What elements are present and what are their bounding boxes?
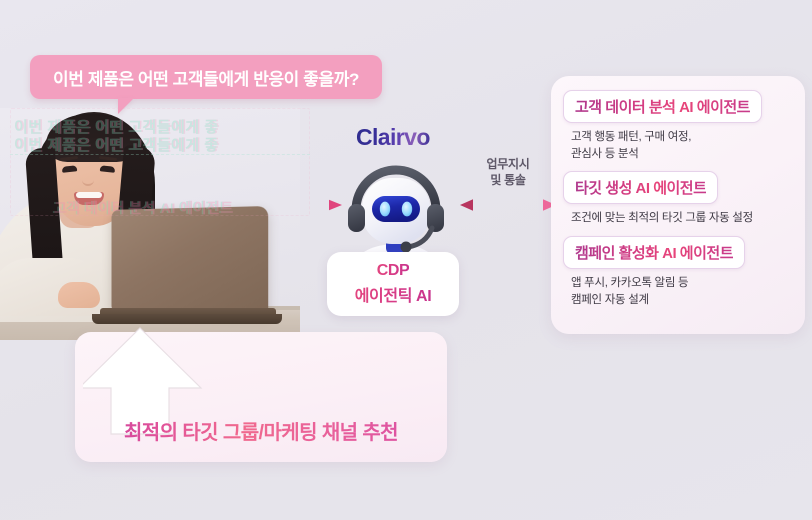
laptop-user-photo [0, 108, 300, 340]
laptop-base [92, 314, 282, 324]
agent-title: 고객 데이터 분석 AI 에이전트 [575, 99, 750, 116]
agent-title-pill[interactable]: 캠페인 활성화 AI 에이전트 [563, 236, 745, 269]
cdp-title-line-2: 에이전틱 AI [355, 282, 432, 306]
laptop-lid [112, 206, 269, 314]
agent-description: 조건에 맞는 최적의 타깃 그룹 자동 설정 [571, 210, 793, 227]
agent-description: 앱 푸시, 카카오톡 알림 등 캠페인 자동 설계 [571, 275, 793, 308]
person-to-robot-arrow [166, 199, 342, 211]
mid-arrow-label-line-2: 및 통솔 [463, 172, 553, 188]
speech-bubble-tail [118, 98, 134, 114]
mouth-smile [74, 192, 104, 205]
mid-arrow-label: 업무지시 및 통솔 [463, 156, 553, 188]
speech-bubble: 이번 제품은 어떤 고객들에게 반응이 좋을까? [30, 55, 382, 99]
cdp-title-line-1: CDP [377, 262, 410, 280]
clairvo-logo: Clairvo [356, 124, 430, 151]
ai-agents-panel: 고객 데이터 분석 AI 에이전트 고객 행동 패턴, 구매 여정, 관심사 등… [551, 76, 805, 334]
agent-description: 고객 행동 패턴, 구매 여정, 관심사 등 분석 [571, 129, 793, 162]
infographic-canvas: 이번 제품은 어떤 고객들에게 좋 이번 제품은 어떤 고객들에게 좋 고객 데… [0, 0, 812, 520]
cdp-agentic-ai-box: CDP 에이전틱 AI [327, 252, 459, 316]
agent-title: 타깃 생성 AI 에이전트 [575, 180, 706, 197]
agent-card: 캠페인 활성화 AI 에이전트 앱 푸시, 카카오톡 알림 등 캠페인 자동 설… [563, 236, 793, 308]
agent-title: 캠페인 활성화 AI 에이전트 [575, 245, 733, 262]
bidirectional-arrow-icon [460, 198, 556, 212]
teeth [76, 192, 102, 198]
recommendation-text: 최적의 타깃 그룹/마케팅 채널 추천 [75, 416, 447, 445]
mid-arrow-label-line-1: 업무지시 [463, 156, 553, 172]
agent-card: 타깃 생성 AI 에이전트 조건에 맞는 최적의 타깃 그룹 자동 설정 [563, 171, 793, 227]
speech-bubble-text: 이번 제품은 어떤 고객들에게 반응이 좋을까? [53, 65, 359, 90]
agent-title-pill[interactable]: 고객 데이터 분석 AI 에이전트 [563, 90, 762, 123]
agent-title-pill[interactable]: 타깃 생성 AI 에이전트 [563, 171, 718, 204]
recommendation-panel: 최적의 타깃 그룹/마케팅 채널 추천 [75, 332, 447, 462]
person-hand [58, 282, 100, 308]
agent-card: 고객 데이터 분석 AI 에이전트 고객 행동 패턴, 구매 여정, 관심사 등… [563, 90, 793, 162]
